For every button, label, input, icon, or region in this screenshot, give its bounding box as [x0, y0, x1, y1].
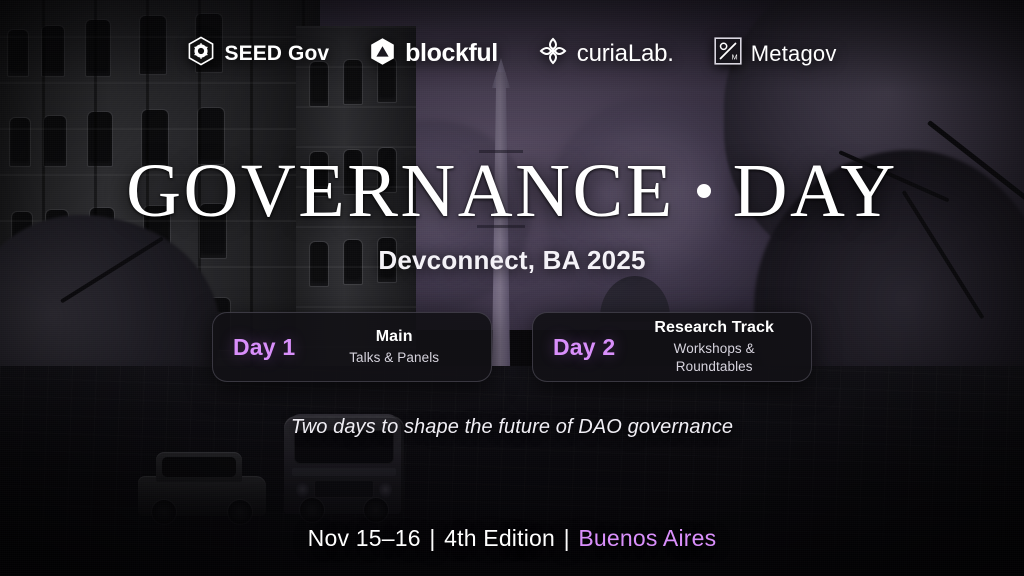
page-title: GOVERNANCE DAY: [126, 153, 898, 229]
title-part-two: DAY: [733, 153, 898, 229]
partner-logo-seed-gov[interactable]: SEED Gov: [187, 36, 329, 71]
partner-logo-metagov[interactable]: M Metagov: [714, 37, 837, 70]
day-label: Day 1: [233, 334, 295, 361]
partner-logo-curialab[interactable]: curiaLab.: [538, 36, 674, 71]
track-title: Research Track: [637, 318, 791, 338]
footer-separator: |: [562, 525, 572, 551]
title-separator-dot: [697, 184, 711, 198]
event-footer: Nov 15–16 | 4th Edition | Buenos Aires: [0, 525, 1024, 552]
partner-logo-blockful[interactable]: blockful: [369, 37, 498, 71]
track-info: Research Track Workshops & Roundtables: [637, 318, 791, 376]
partner-logo-label: blockful: [405, 39, 498, 68]
event-tagline: Two days to shape the future of DAO gove…: [291, 416, 733, 439]
curialab-star-icon: [538, 36, 568, 71]
event-dates: Nov 15–16: [308, 525, 421, 551]
metagov-square-icon: M: [714, 37, 742, 70]
seed-gov-hex-icon: [187, 36, 215, 71]
partner-logo-label: SEED Gov: [224, 42, 329, 66]
schedule-card-day-2[interactable]: Day 2 Research Track Workshops & Roundta…: [532, 312, 812, 382]
day-label: Day 2: [553, 334, 615, 361]
schedule-card-day-1[interactable]: Day 1 Main Talks & Panels: [212, 312, 492, 382]
event-city: Buenos Aires: [578, 525, 716, 551]
partner-logo-label: Metagov: [751, 41, 837, 67]
partner-logo-label: curiaLab.: [577, 40, 674, 68]
event-poster: SEED Gov blockful: [0, 0, 1024, 576]
schedule-card-group: Day 1 Main Talks & Panels Day 2 Research…: [212, 312, 812, 382]
blockful-hex-icon: [369, 37, 396, 71]
track-info: Main Talks & Panels: [317, 327, 471, 367]
footer-separator: |: [427, 525, 437, 551]
title-part-one: GOVERNANCE: [126, 153, 675, 229]
track-subtitle: Workshops & Roundtables: [637, 340, 791, 376]
poster-content: SEED Gov blockful: [0, 0, 1024, 576]
svg-text:M: M: [731, 52, 737, 61]
track-title: Main: [317, 327, 471, 347]
event-edition: 4th Edition: [444, 525, 555, 551]
partner-logo-bar: SEED Gov blockful: [187, 36, 836, 71]
track-subtitle: Talks & Panels: [317, 349, 471, 367]
event-subtitle: Devconnect, BA 2025: [378, 245, 645, 276]
